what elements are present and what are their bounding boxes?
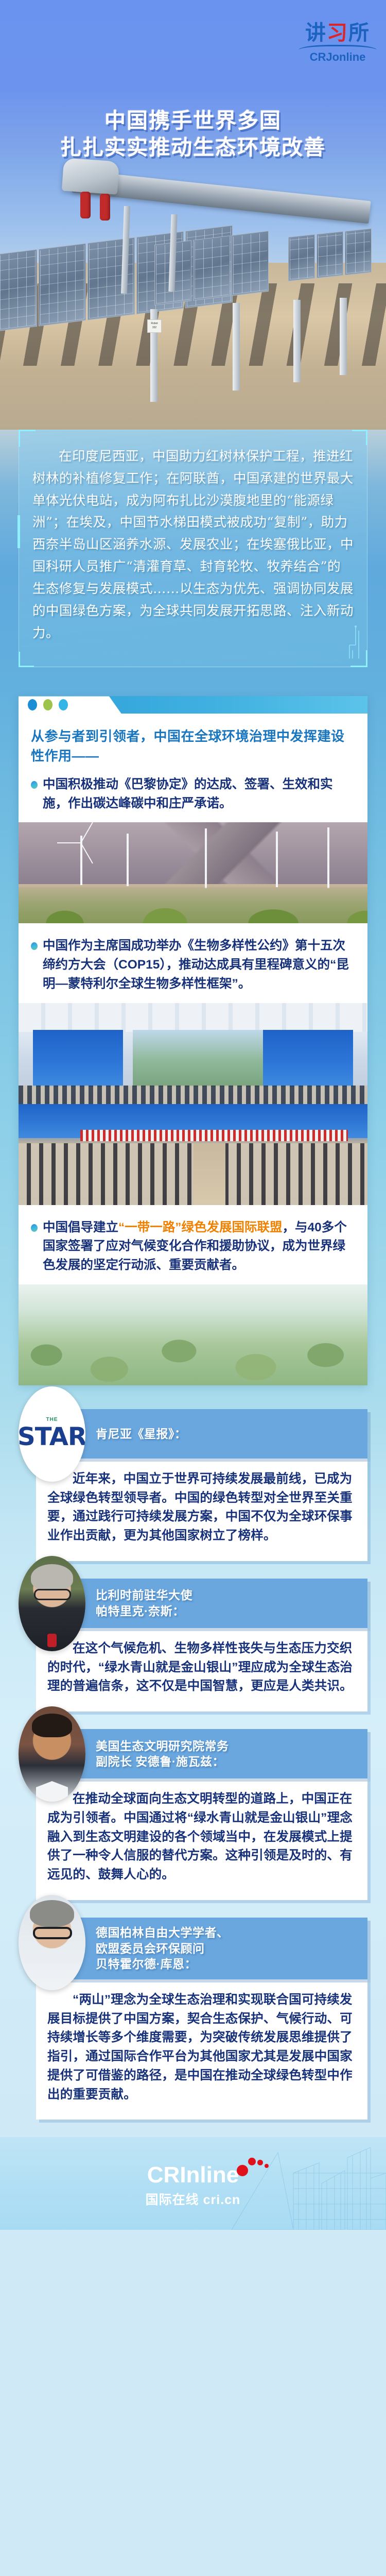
- quote-block-andrew-schwartz: 美国生态文明研究院常务 副院长 安德鲁·施瓦兹： 在推动全球面向生态文明转型的道…: [19, 1729, 367, 1900]
- foreground-shrubs: [19, 887, 367, 923]
- solar-panel-row-far: [288, 228, 372, 281]
- support-mast: [340, 298, 347, 375]
- wind-turbine: [127, 834, 129, 886]
- footer-section: CRInline 国际在线 cri.cn: [0, 2137, 386, 2230]
- quote-text: 近年来，中国立于世界可持续发展最前线，已成为全球绿色转型领导者。中国的绿色转型对…: [47, 1470, 356, 1546]
- mountain-range: [19, 822, 367, 884]
- quote-source-name: 比利时前驻华大使 帕特里克·奈斯：: [96, 1582, 200, 1624]
- infographic-page: Robot332 讲习所 CRJonline 中国携手世界多国 扎扎实实推动生态…: [0, 0, 386, 2230]
- quote-body: 在推动全球面向生态文明转型的道路上，中国正在成为引领者。中国通过将“绿水青山就是…: [36, 1778, 367, 1900]
- quote-text: 在这个气候危机、生物多样性丧失与生态压力交织的时代，“绿水青山就是金山银山”理应…: [47, 1639, 356, 1696]
- cleaning-roller: [80, 192, 91, 218]
- bullet-item-1: 中国积极推动《巴黎协定》的达成、签署、生效和实施，作出碳达峰碳中和庄严承诺。: [31, 775, 355, 823]
- support-mast: [293, 300, 301, 382]
- intro-section: 在印度尼西亚，中国助力红树林保护工程，推进红树林的补植修复工作；在阿联酋，中国承…: [0, 430, 386, 685]
- bullet-item-2: 中国作为主席国成功举办《生物多样性公约》第十五次缔约方大会（COP15），推动达…: [31, 937, 355, 1003]
- bullet-text: 中国倡导建立“一带一路”绿色发展国际联盟，与40多个国家签署了应对气候变化合作和…: [43, 1218, 355, 1275]
- bullet-text: 中国作为主席国成功举办《生物多样性公约》第十五次缔约方大会（COP15），推动达…: [43, 937, 355, 993]
- quote-banner: 德国柏林自由大学学者、 欧盟委员会环保顾问 贝特霍尔德·库恩：: [36, 1918, 367, 1979]
- quote-body: 近年来，中国立于世界可持续发展最前线，已成为全球绿色转型领导者。中国的绿色转型对…: [36, 1459, 367, 1561]
- avatar-berthold-kuhn: [19, 1895, 85, 1990]
- card-heading: 从参与者到引领者，中国在全球环境治理中发挥建设性作用——: [31, 727, 355, 766]
- quote-text: “两山”理念为全球生态治理和实现联合国可持续发展目标提供了中国方案，契合生态保护…: [47, 1991, 356, 2105]
- quotes-section: THE STAR 肯尼亚《星报》： 近年来，中国立于世界可持续发展最前线，已成为…: [0, 1401, 386, 2120]
- hair-shape: [32, 1714, 72, 1737]
- wind-farm-photo: [19, 822, 367, 923]
- quote-banner: 美国生态文明研究院常务 副院长 安德鲁·施瓦兹：: [36, 1729, 367, 1778]
- quote-banner: 比利时前驻华大使 帕特里克·奈斯：: [36, 1579, 367, 1628]
- support-mast: [233, 303, 240, 391]
- wind-turbine: [205, 828, 207, 888]
- hero-section: Robot332 讲习所 CRJonline 中国携手世界多国 扎扎实实推动生态…: [0, 0, 386, 443]
- robot-label-tag: Robot332: [147, 319, 162, 333]
- quote-source-line-1: 比利时前驻华大使: [96, 1587, 192, 1603]
- hair-shape: [31, 1564, 73, 1591]
- quote-text: 在推动全球面向生态文明转型的道路上，中国正在成为引领者。中国通过将“绿水青山就是…: [47, 1790, 356, 1885]
- logo-swoosh-icon: [299, 45, 377, 50]
- circuit-decoration-icon: [329, 624, 360, 660]
- national-flags-row: [80, 1130, 348, 1141]
- quote-source-name: 美国生态文明研究院常务 副院长 安德鲁·施瓦兹：: [96, 1733, 236, 1775]
- logo-chinese-characters: 讲习所: [299, 23, 377, 43]
- wind-turbine: [327, 827, 329, 888]
- mangrove-forest-photo: [19, 1284, 367, 1385]
- hall-ceiling: [19, 1003, 367, 1032]
- avatar-patrick-nijs: [19, 1556, 85, 1651]
- quote-source-line-1: 德国柏林自由大学学者、: [96, 1925, 229, 1940]
- quote-source-name: 肯尼亚《星报》：: [96, 1421, 194, 1447]
- audience-seating: [19, 1143, 367, 1205]
- bullet-text: 中国积极推动《巴黎协定》的达成、签署、生效和实施，作出碳达峰碳中和庄严承诺。: [43, 775, 355, 814]
- bullet-text-highlight: “一带一路”绿色发展国际联盟: [118, 1221, 283, 1234]
- quote-body: 在这个气候危机、生物多样性丧失与生态压力交织的时代，“绿水青山就是金山银山”理应…: [36, 1628, 367, 1711]
- corner-bracket-icon: [352, 430, 367, 445]
- eyeglasses-icon: [33, 1927, 72, 1939]
- quote-source-line-3: 贝特霍尔德·库恩：: [96, 1956, 229, 1972]
- audience-row: [19, 1086, 367, 1104]
- quote-source-line-2: 欧盟委员会环保顾问: [96, 1941, 229, 1956]
- necktie-shape: [47, 1634, 57, 1647]
- star-logo-icon: THE STAR: [19, 1386, 85, 1482]
- page-title: 中国携手世界多国 扎扎实实推动生态环境改善: [0, 107, 386, 161]
- window-dot-cyan-icon: [59, 699, 68, 710]
- cri-online-footer-logo: CRInline 国际在线 cri.cn: [0, 2164, 386, 2208]
- achievements-section: 从参与者到引领者，中国在全球环境治理中发挥建设性作用—— 中国积极推动《巴黎协定…: [0, 685, 386, 1400]
- edge-accent-bar: [17, 515, 20, 548]
- quote-banner: THE STAR 肯尼亚《星报》：: [36, 1409, 367, 1459]
- quote-block-berthold-kuhn: 德国柏林自由大学学者、 欧盟委员会环保顾问 贝特霍尔德·库恩： “两山”理念为全…: [19, 1918, 367, 2120]
- cleaning-roller: [100, 194, 110, 221]
- quote-source-line-2: 副院长 安德鲁·施瓦兹：: [96, 1754, 229, 1769]
- star-logo-word: STAR: [19, 1422, 85, 1451]
- intro-glass-card: 在印度尼西亚，中国助力红树林保护工程，推进红树林的补植修复工作；在阿联酋，中国承…: [19, 430, 367, 667]
- card-content: 中国作为主席国成功举办《生物多样性公约》第十五次缔约方大会（COP15），推动达…: [19, 923, 367, 1003]
- quote-source-line-2: 帕特里克·奈斯：: [96, 1603, 192, 1619]
- cop15-stage-photo: [19, 1003, 367, 1104]
- quote-block-star: THE STAR 肯尼亚《星报》： 近年来，中国立于世界可持续发展最前线，已成为…: [19, 1409, 367, 1561]
- quote-body: “两山”理念为全球生态治理和实现联合国可持续发展目标提供了中国方案，契合生态保护…: [36, 1979, 367, 2120]
- quote-source-name: 德国柏林自由大学学者、 欧盟委员会环保顾问 贝特霍尔德·库恩：: [96, 1920, 236, 1977]
- title-line-2: 扎扎实实推动生态环境改善: [0, 134, 386, 161]
- cri-jiangxisuo-logo: 讲习所 CRJonline: [299, 23, 377, 64]
- logo-cri-online-text: CRJonline: [299, 50, 377, 64]
- bullet-dot-icon: [31, 942, 38, 950]
- conference-hall-photo: [19, 1104, 367, 1205]
- hero-solar-farm-photo: Robot332: [0, 155, 386, 443]
- wind-turbine: [276, 832, 278, 887]
- hair-shape: [30, 1900, 74, 1927]
- title-line-1: 中国携手世界多国: [0, 107, 386, 134]
- quote-block-patrick-nijs: 比利时前驻华大使 帕特里克·奈斯： 在这个气候危机、生物多样性丧失与生态压力交织…: [19, 1579, 367, 1711]
- cop15-screen-left: [33, 1030, 123, 1087]
- center-aisle: [194, 1143, 225, 1205]
- bullet-item-3: 中国倡导建立“一带一路”绿色发展国际联盟，与40多个国家签署了应对气候变化合作和…: [31, 1218, 355, 1284]
- cop15-screen-right: [263, 1030, 353, 1087]
- card-tab: [19, 696, 121, 714]
- intro-paragraph: 在印度尼西亚，中国助力红树林保护工程，推进红树林的补植修复工作；在阿联酋，中国承…: [32, 446, 354, 644]
- bullet-dot-icon: [31, 1224, 38, 1232]
- card-title-bar: [19, 696, 367, 714]
- card-content: 中国倡导建立“一带一路”绿色发展国际联盟，与40多个国家签署了应对气候变化合作和…: [19, 1205, 367, 1284]
- card-content: 从参与者到引领者，中国在全球环境治理中发挥建设性作用—— 中国积极推动《巴黎协定…: [19, 714, 367, 822]
- corner-bracket-icon: [19, 652, 34, 667]
- window-dot-blue-icon: [28, 699, 37, 710]
- star-logo-the: THE: [46, 1417, 58, 1422]
- achievements-card: 从参与者到引领者，中国在全球环境治理中发挥建设性作用—— 中国积极推动《巴黎协定…: [19, 696, 367, 1385]
- cleaning-robot-head: [62, 158, 119, 194]
- window-dot-green-icon: [43, 699, 52, 710]
- bubble-dots-icon: [235, 2157, 271, 2170]
- eyeglasses-icon: [34, 1589, 71, 1600]
- footer-logo-english: CRInline: [147, 2164, 239, 2187]
- star-newspaper-logo: THE STAR: [19, 1386, 85, 1482]
- bullet-dot-icon: [31, 781, 38, 789]
- avatar-andrew-schwartz: [19, 1706, 85, 1802]
- footer-logo-chinese: 国际在线 cri.cn: [0, 2190, 386, 2208]
- quote-source-line-1: 美国生态文明研究院常务: [96, 1738, 229, 1754]
- bullet-text-before: 中国倡导建立: [43, 1221, 118, 1234]
